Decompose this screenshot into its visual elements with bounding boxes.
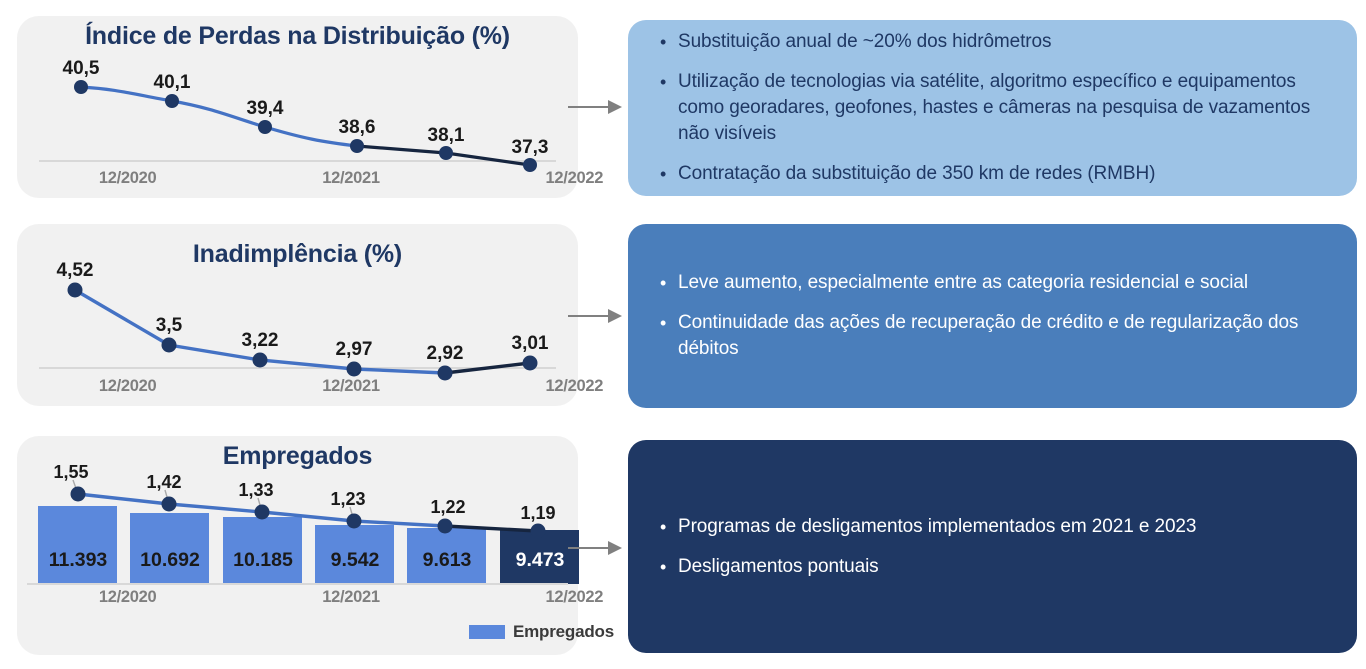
data-label: 40,1 <box>154 72 191 94</box>
bullet-item: • Desligamentos pontuais <box>660 554 1329 580</box>
bullet-item: • Substituição anual de ~20% dos hidrôme… <box>660 29 1329 55</box>
data-point-marker <box>347 514 362 529</box>
bullet-item: • Contratação da substituição de 350 km … <box>660 161 1329 187</box>
data-label: 2,92 <box>427 343 464 365</box>
data-point-marker <box>350 139 364 153</box>
bullet-dot-icon: • <box>660 270 678 296</box>
data-point-marker <box>439 146 453 160</box>
bullet-text: Programas de desligamentos implementados… <box>678 514 1196 540</box>
bullet-dot-icon: • <box>660 161 678 187</box>
data-point-marker <box>258 120 272 134</box>
line-data-label: 1,19 <box>520 503 555 524</box>
axis-tick: 12/2021 <box>239 588 462 607</box>
bullet-dot-icon: • <box>660 310 678 336</box>
line-data-label: 1,55 <box>53 462 88 483</box>
bullet-text: Desligamentos pontuais <box>678 554 879 580</box>
data-point-marker <box>347 362 362 377</box>
bullet-dot-icon: • <box>660 69 678 95</box>
data-point-marker <box>255 505 270 520</box>
line-data-label: 1,23 <box>330 489 365 510</box>
axis-tick: 12/2020 <box>16 377 239 396</box>
data-point-marker <box>71 487 86 502</box>
bar-data-label: 10.692 <box>140 549 200 572</box>
bullet-text: Leve aumento, especialmente entre as cat… <box>678 270 1248 296</box>
legend-swatch-icon <box>469 625 505 639</box>
info-panel-empregados: • Programas de desligamentos implementad… <box>628 440 1357 653</box>
axis-tick: 12/2021 <box>239 377 462 396</box>
legend-label: Empregados <box>513 622 614 642</box>
bar-data-label: 11.393 <box>49 549 108 572</box>
line-segment-main <box>81 87 357 146</box>
bar-data-label: 9.542 <box>331 549 380 572</box>
bullet-item: • Utilização de tecnologias via satélite… <box>660 69 1329 147</box>
bullet-text: Substituição anual de ~20% dos hidrômetr… <box>678 29 1051 55</box>
arrow-right-icon-1 <box>568 96 624 118</box>
bullet-dot-icon: • <box>660 29 678 55</box>
data-label: 2,97 <box>336 339 373 361</box>
data-label: 37,3 <box>512 137 549 159</box>
data-point-marker <box>438 519 453 534</box>
bullet-item: • Leve aumento, especialmente entre as c… <box>660 270 1329 296</box>
axis-tick: 12/2021 <box>239 169 462 188</box>
data-label: 3,5 <box>156 315 182 337</box>
data-point-marker <box>162 338 177 353</box>
bullet-dot-icon: • <box>660 514 678 540</box>
data-label: 38,1 <box>428 125 465 147</box>
info-panel-perdas: • Substituição anual de ~20% dos hidrôme… <box>628 20 1357 196</box>
data-label: 39,4 <box>247 98 284 120</box>
bullet-text: Continuidade das ações de recuperação de… <box>678 310 1329 362</box>
arrow-right-icon-3 <box>568 537 624 559</box>
bar-data-label-highlight: 9.473 <box>516 549 565 572</box>
data-label: 4,52 <box>57 260 94 282</box>
data-label: 38,6 <box>339 117 376 139</box>
axis-tick: 12/2020 <box>16 169 239 188</box>
bullet-text: Utilização de tecnologias via satélite, … <box>678 69 1329 147</box>
data-point-marker <box>162 497 177 512</box>
bullet-text: Contratação da substituição de 350 km de… <box>678 161 1155 187</box>
data-label: 3,22 <box>242 330 279 352</box>
bar-data-label: 9.613 <box>423 549 472 572</box>
bar <box>38 506 117 584</box>
data-point-marker <box>74 80 88 94</box>
data-label: 40,5 <box>63 58 100 80</box>
bullet-dot-icon: • <box>660 554 678 580</box>
bullet-item: • Continuidade das ações de recuperação … <box>660 310 1329 362</box>
data-point-marker <box>68 283 83 298</box>
line-data-label: 1,42 <box>146 472 181 493</box>
arrow-right-icon-2 <box>568 305 624 327</box>
data-point-marker <box>165 94 179 108</box>
legend-item-bar: Empregados <box>469 622 614 642</box>
axis-tick: 12/2020 <box>16 588 239 607</box>
data-point-marker <box>523 356 538 371</box>
data-label: 3,01 <box>512 333 549 355</box>
info-panel-inadimplencia: • Leve aumento, especialmente entre as c… <box>628 224 1357 408</box>
line-data-label: 1,33 <box>238 480 273 501</box>
bar-data-label: 10.185 <box>233 549 293 572</box>
bullet-item: • Programas de desligamentos implementad… <box>660 514 1329 540</box>
line-data-label: 1,22 <box>430 497 465 518</box>
data-point-marker <box>253 353 268 368</box>
data-point-marker <box>531 524 546 539</box>
